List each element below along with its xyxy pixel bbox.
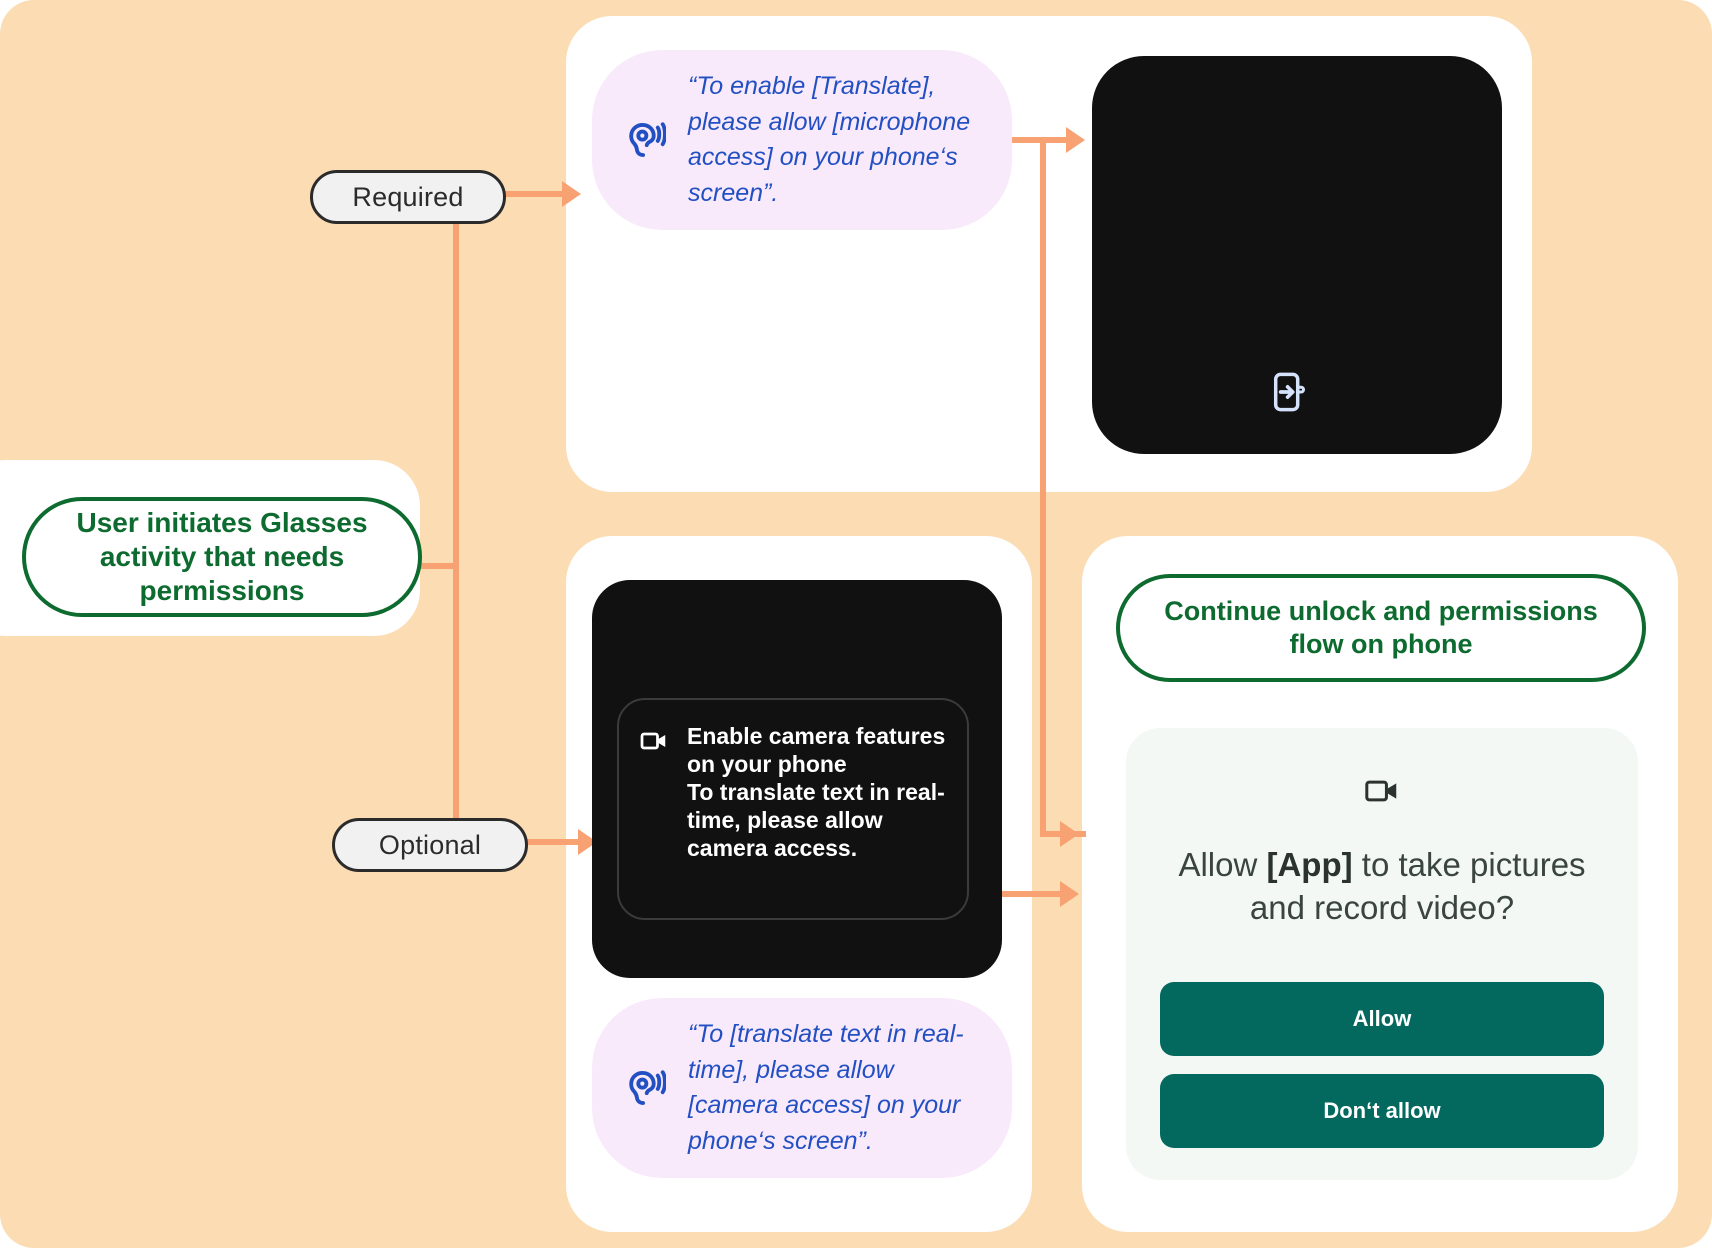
arrowhead-device-to-phone — [1060, 881, 1079, 907]
permission-question-prefix: Allow — [1178, 846, 1266, 883]
glasses-notification-card: Enable camera features on your phone To … — [617, 698, 969, 920]
phone-unlock-icon — [1268, 370, 1312, 414]
speech-bubble-camera-text: “To [translate text in real-time], pleas… — [688, 1017, 978, 1159]
arrowhead-required-to-bubble — [562, 181, 581, 207]
speech-bubble-microphone-text: “To enable [Translate], please allow [mi… — [688, 69, 978, 211]
ear-hearing-icon — [622, 1066, 666, 1110]
speech-bubble-microphone: “To enable [Translate], please allow [mi… — [592, 50, 1012, 230]
connector-spine-vertical — [453, 218, 459, 842]
permission-allow-button[interactable]: Allow — [1160, 982, 1604, 1056]
connector-start-to-spine — [420, 563, 459, 569]
permission-question-app: [App] — [1266, 846, 1352, 883]
android-permission-dialog: Allow [App] to take pictures and record … — [1126, 728, 1638, 1180]
phone-flow-header-label[interactable]: Continue unlock and permissions flow on … — [1116, 574, 1646, 682]
permission-question: Allow [App] to take pictures and record … — [1160, 844, 1604, 930]
flow-diagram-canvas: User initiates Glasses activity that nee… — [0, 0, 1712, 1248]
branch-pill-required[interactable]: Required — [310, 170, 506, 224]
connector-vertical-to-phone — [1040, 137, 1046, 837]
start-node-label[interactable]: User initiates Glasses activity that nee… — [22, 497, 422, 617]
branch-pill-optional[interactable]: Optional — [332, 818, 528, 872]
arrowhead-bubble-to-device-top — [1066, 127, 1085, 153]
notification-title: Enable camera features on your phone — [687, 723, 945, 777]
ear-hearing-icon — [622, 118, 666, 162]
permission-deny-button[interactable]: Don‘t allow — [1160, 1074, 1604, 1148]
connector-optional-to-device — [522, 839, 584, 845]
video-camera-icon — [1363, 772, 1401, 810]
arrowhead-into-phone-panel — [1060, 821, 1079, 847]
notification-description: To translate text in real-time, please a… — [687, 779, 945, 861]
speech-bubble-camera: “To [translate text in real-time], pleas… — [592, 998, 1012, 1178]
connector-required-to-bubble — [500, 191, 562, 197]
video-camera-icon — [639, 726, 669, 756]
